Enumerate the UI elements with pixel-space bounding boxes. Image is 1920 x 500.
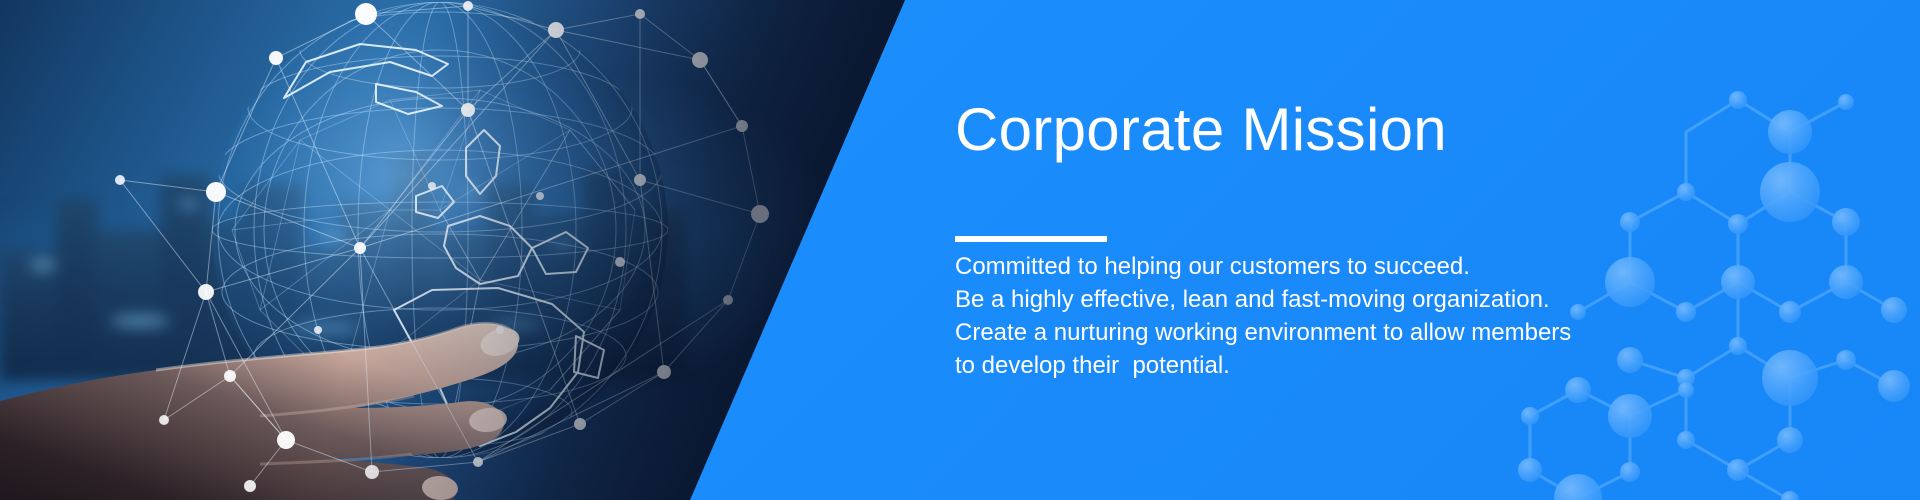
corporate-mission-banner: Corporate Mission Committed to helping o… <box>0 0 1920 500</box>
mission-line-4: to develop their potential. <box>955 349 1595 382</box>
page-title: Corporate Mission <box>955 96 1447 163</box>
mission-statement: Committed to helping our customers to su… <box>955 250 1595 382</box>
title-divider <box>955 236 1107 242</box>
mission-line-2: Be a highly effective, lean and fast-mov… <box>955 283 1595 316</box>
banner-content: Corporate Mission Committed to helping o… <box>955 0 1855 500</box>
mission-line-3: Create a nurturing working environment t… <box>955 316 1595 349</box>
mission-line-1: Committed to helping our customers to su… <box>955 250 1595 283</box>
